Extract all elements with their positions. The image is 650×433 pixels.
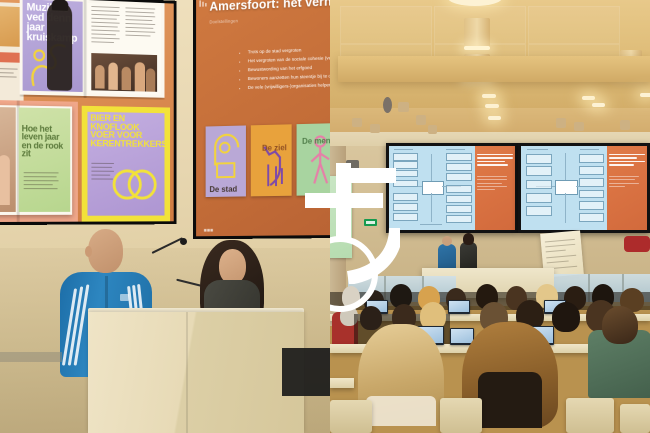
diagram-panel — [389, 146, 475, 230]
microphone-head-icon — [180, 238, 187, 245]
ceiling-spot — [352, 118, 362, 127]
auditorium-seat — [440, 398, 482, 433]
hall-screen-left — [386, 143, 518, 233]
ceiling-upper — [330, 0, 650, 108]
wall-panel — [282, 348, 330, 396]
panel-body-text — [609, 176, 639, 189]
ceiling-light — [582, 96, 595, 100]
slide-footer-logo: ◼◼◼ — [204, 227, 214, 232]
audience-desk-row — [330, 378, 354, 388]
ceiling-light — [592, 103, 605, 107]
male-speaker-head — [88, 229, 123, 273]
diagram-center-node — [422, 181, 445, 195]
slide-background — [196, 0, 330, 236]
ceiling-camera-icon — [383, 97, 392, 113]
slide-bullet-list: Trots op de stad vergroten Het vergroten… — [209, 45, 330, 94]
theme-card-de-stad: De stad — [206, 125, 246, 197]
presentation-logo-icon — [198, 0, 209, 9]
magazine-spread-2: Hoe het leven jaar en de rook zit — [0, 100, 78, 222]
female-speaker-face — [219, 249, 246, 284]
magazine-spread-slide: Muzikale ved denn jaar kruiskamp — [0, 0, 174, 222]
lectern-edge — [186, 312, 188, 433]
magazine-spread-3: BIER EN KNOFLOOK VOER VOOR KERENTREKKERS — [82, 106, 172, 222]
ceiling-spot — [574, 122, 584, 131]
screen-content — [521, 146, 647, 230]
theme-card-de-ziel: De ziel — [251, 124, 292, 196]
panel-heading — [477, 154, 513, 168]
wall-object-red — [624, 236, 650, 252]
ceiling-light — [482, 94, 496, 98]
amersfoort-verhaal-slide: Amersfoort: het verhaal Doelstellingen T… — [196, 0, 330, 236]
lecture-hall-photo — [330, 0, 650, 433]
wall-speaker — [346, 160, 359, 180]
ceiling-spot — [556, 118, 566, 128]
ceiling-light — [640, 93, 650, 97]
audience-head — [360, 306, 382, 330]
ceiling-spot — [416, 115, 426, 125]
pendant-light — [464, 18, 490, 48]
audience-head — [602, 306, 638, 344]
hall-screen-right — [518, 143, 650, 233]
building-illustration-icon — [206, 125, 246, 181]
auditorium-seat — [566, 398, 614, 433]
theme-card-de-mens: De mens — [297, 123, 330, 196]
card-caption: De ziel — [262, 144, 287, 152]
student-laptop — [448, 300, 470, 314]
magazine-headline-2: Hoe het leven jaar en de rook zit — [22, 124, 69, 157]
ceiling-light — [485, 104, 499, 108]
slide-theme-cards: De stad De ziel De mens — [206, 123, 330, 197]
magazine-photo — [91, 53, 157, 92]
ceiling-spot — [428, 125, 437, 134]
auditorium-seat — [330, 400, 372, 433]
emergency-exit-sign — [364, 219, 377, 226]
ceiling-spot — [370, 124, 380, 133]
ceiling-spot — [398, 102, 409, 112]
ceiling-light — [488, 116, 501, 120]
panel-body-text — [477, 176, 507, 192]
stage-presenter-male — [438, 244, 456, 270]
stage-presenter-female — [460, 242, 477, 270]
ceiling-spot — [620, 120, 630, 130]
loop-illustration — [110, 161, 161, 208]
diagram-panel — [521, 146, 607, 230]
card-caption: De mens — [302, 137, 330, 145]
presenters-at-podium-photo: Muzikale ved denn jaar kruiskamp — [0, 0, 330, 433]
screen-content — [389, 146, 515, 230]
auditorium-seat — [620, 404, 650, 433]
logo-badge — [120, 294, 129, 301]
lectern — [88, 312, 304, 433]
ceiling-soffit — [338, 56, 650, 82]
photo-collage: Muzikale ved denn jaar kruiskamp — [0, 0, 650, 433]
front-row-student-top — [478, 372, 542, 428]
side-table — [0, 352, 62, 362]
text-panel — [475, 146, 515, 230]
panel-heading — [609, 154, 645, 168]
text-panel — [607, 146, 647, 230]
magazine-headline-3: BIER EN KNOFLOOK VOER VOOR KERENTREKKERS — [90, 115, 160, 150]
front-row-student-top — [366, 396, 436, 426]
card-caption: De stad — [209, 185, 237, 194]
magazine-spread-1: Muzikale ved denn jaar kruiskamp — [20, 0, 165, 100]
audience-head — [552, 302, 580, 332]
diagram-center-node — [555, 180, 578, 195]
male-speaker-ear — [85, 246, 92, 257]
